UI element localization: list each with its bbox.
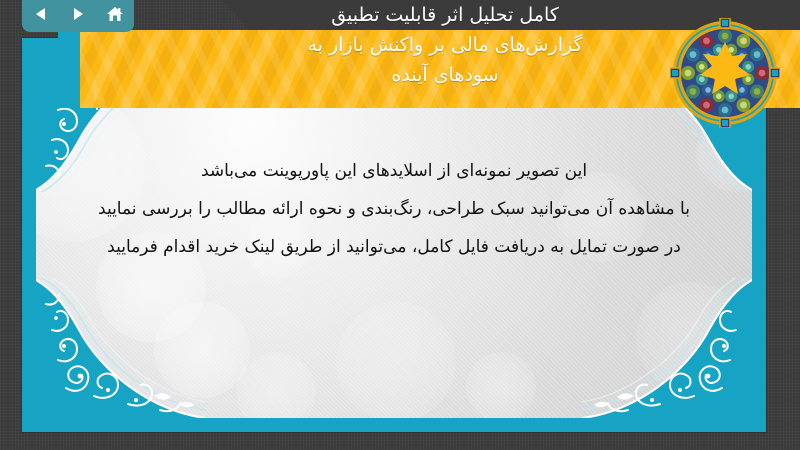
body-line-2: با مشاهده آن می‌توانید سبک طراحی، رنگ‌بن… bbox=[76, 190, 712, 228]
title-line-1: کامل تحلیل اثر قابلیت تطبیق bbox=[150, 0, 740, 30]
slide-body-text: این تصویر نمونه‌ای از اسلایدهای این پاور… bbox=[36, 152, 752, 266]
persian-medallion-icon bbox=[670, 18, 780, 128]
arabesque-corner-icon bbox=[582, 278, 752, 418]
slide-viewer: این تصویر نمونه‌ای از اسلایدهای این پاور… bbox=[0, 0, 800, 450]
title-line-2: گزارش‌های مالی بر واکنش بازار به bbox=[150, 30, 740, 60]
arabesque-corner-icon bbox=[36, 278, 206, 418]
body-line-1: این تصویر نمونه‌ای از اسلایدهای این پاور… bbox=[76, 152, 712, 190]
body-line-3: در صورت تمایل به دریافت فایل کامل، می‌تو… bbox=[76, 228, 712, 266]
title-line-3: سودهای آینده bbox=[150, 60, 740, 90]
bokeh-circle bbox=[466, 352, 536, 418]
bokeh-circle bbox=[336, 302, 456, 418]
